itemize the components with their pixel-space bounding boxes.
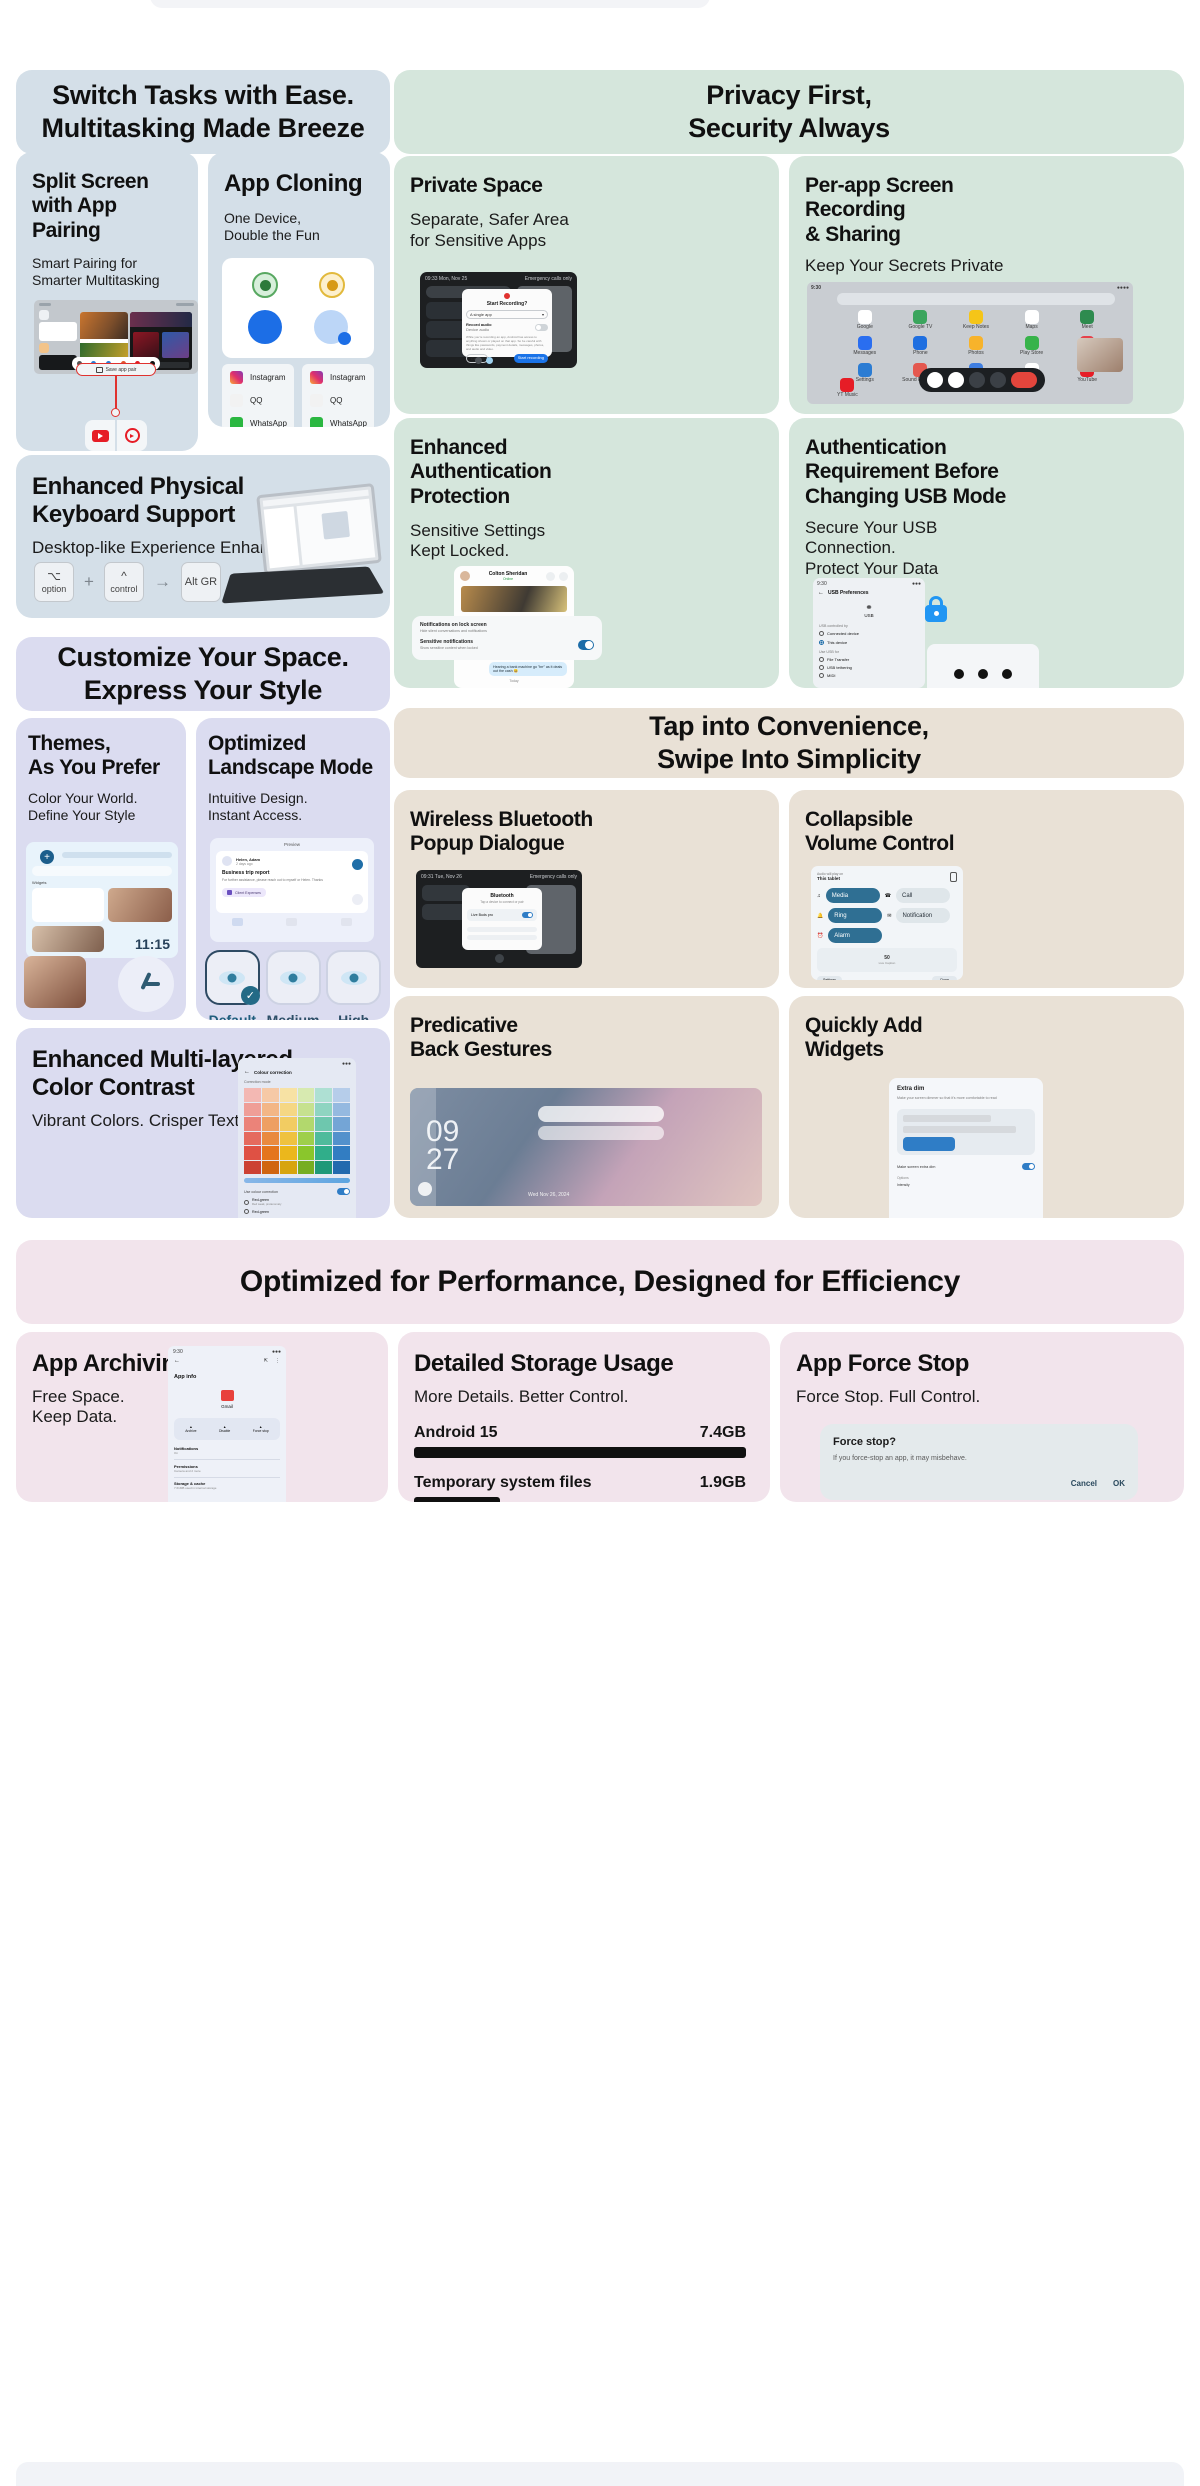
extra-dim-toggle[interactable] [1022, 1163, 1035, 1170]
card-add-widgets: Quickly Add Widgets Extra dim Make your … [789, 996, 1184, 1218]
privacy-band: Privacy First, Security Always [394, 70, 1184, 154]
force-stop-title: App Force Stop [796, 1350, 1168, 1378]
clone-list-left: Instagram QQ WhatsApp [222, 364, 294, 427]
end-call-button[interactable] [1011, 372, 1037, 388]
option-glyph-icon: ⌥ [47, 570, 61, 582]
force-stop-dialog: Force stop? If you force-stop an app, it… [820, 1424, 1138, 1500]
card-usb-auth: Authentication Requirement Before Changi… [789, 418, 1184, 688]
table-row: Android 15 7.4GB [414, 1424, 746, 1442]
control-glyph-icon: ^ [121, 570, 127, 582]
app-cloning-sub: One Device, Double the Fun [224, 210, 374, 244]
card-color-contrast: Enhanced Multi-layered Color Contrast Vi… [16, 1028, 390, 1218]
private-space-title: Private Space [410, 174, 763, 198]
ring-icon: 🔔 [817, 913, 823, 919]
sensitive-notifications-panel: Notifications on lock screen Hide silent… [412, 616, 602, 660]
storage-bar [414, 1447, 746, 1458]
qq-icon [230, 394, 243, 407]
ok-button[interactable]: OK [1113, 1479, 1125, 1488]
app-cloning-title: App Cloning [224, 170, 374, 198]
cancel-button[interactable]: Cancel [1071, 1479, 1097, 1488]
bottom-strip [16, 2462, 1184, 2486]
key-altgr[interactable]: Alt GR [181, 562, 221, 602]
radio-file-transfer[interactable]: File Transfer [819, 657, 849, 662]
list-item: QQ [302, 389, 374, 412]
radio-red-green-1[interactable]: Red-green Red weak, protanomaly [244, 1198, 281, 1206]
lock-icon [923, 596, 949, 622]
archive-action[interactable]: ▲Archive [185, 1425, 196, 1433]
usb-preferences-mock: 9:30 ●●● ← USB Preferences ⚭ USB USB con… [813, 578, 925, 688]
landscape-sub: Intuitive Design. Instant Access. [208, 790, 378, 824]
card-keyboard-support: Enhanced Physical Keyboard Support Deskt… [16, 455, 390, 618]
multitasking-band-title: Switch Tasks with Ease. Multitasking Mad… [42, 79, 365, 145]
raise-hand-icon[interactable] [969, 372, 985, 388]
chip-client-expenses[interactable]: Client Expenses [222, 888, 266, 897]
file-icon [227, 890, 232, 895]
split-screen-sub: Smart Pairing for Smarter Multitasking [32, 255, 182, 289]
bluetooth-title: Wireless Bluetooth Popup Dialogue [410, 808, 763, 857]
table-row: Temporary system files 1.9GB [414, 1474, 746, 1492]
volume-media[interactable]: Media [826, 888, 880, 903]
card-themes: Themes, As You Prefer Color Your World. … [16, 718, 186, 1020]
split-screen-title: Split Screen with App Pairing [32, 170, 182, 243]
card-split-screen: Split Screen with App Pairing Smart Pair… [16, 152, 198, 451]
app-info-mock: 9:30 ●●● ← ⇱ ⋮ App info Gmail ▲Archive ▲… [168, 1346, 286, 1502]
bluetooth-toggle[interactable] [522, 912, 533, 918]
keyboard-shortcut-row: ⌥ option + ^ control → Alt GR [34, 562, 221, 602]
list-item: QQ [222, 389, 294, 412]
video-call-pip [1077, 338, 1123, 372]
landscape-title: Optimized Landscape Mode [208, 732, 378, 781]
start-recording-button[interactable]: Start recording [514, 354, 548, 363]
alarm-icon: ⏰ [817, 933, 823, 939]
mute-icon[interactable] [927, 372, 943, 388]
storage-rows: Android 15 7.4GB Temporary system files … [414, 1424, 746, 1502]
tablet-keyboard-illustration [228, 485, 384, 613]
contrast-level-selector[interactable]: ✓ Default Medium High [202, 950, 384, 1020]
screen-recording-sub: Keep Your Secrets Private [805, 256, 1168, 276]
volume-title: Collapsible Volume Control [805, 808, 1168, 857]
arrow-right-icon: → [154, 572, 171, 592]
performance-band: Optimized for Performance, Designed for … [16, 1240, 1184, 1324]
private-space-sub: Separate, Safer Area for Sensitive Apps [410, 210, 763, 251]
chevron-down-icon: ▾ [542, 312, 544, 317]
pin-dots [927, 644, 1039, 688]
pair-icon [96, 367, 103, 373]
list-item: Instagram [302, 366, 374, 389]
card-volume-control: Collapsible Volume Control Audio will pl… [789, 790, 1184, 988]
private-space-mock: 09:33 Mon, Nov 25 Emergency calls only S… [420, 272, 577, 368]
call-controls[interactable] [919, 368, 1045, 392]
contrast-level-default[interactable]: ✓ Default [202, 950, 263, 1020]
card-bluetooth-popup: Wireless Bluetooth Popup Dialogue 09:31 … [394, 790, 779, 988]
customize-band: Customize Your Space. Express Your Style [16, 637, 390, 711]
inbox-icon[interactable] [232, 918, 243, 926]
cloning-illustration [222, 258, 374, 358]
record-audio-toggle[interactable] [535, 324, 548, 331]
call-icon: ☎ [885, 893, 891, 899]
card-force-stop: App Force Stop Force Stop. Full Control.… [780, 1332, 1184, 1502]
enhanced-auth-title: Enhanced Authentication Protection [410, 436, 763, 509]
clone-list-right: Instagram QQ WhatsApp [302, 364, 374, 427]
convenience-band-title: Tap into Convenience, Swipe Into Simplic… [649, 710, 929, 776]
storage-bar [414, 1497, 500, 1502]
themes-title: Themes, As You Prefer [28, 732, 174, 781]
customize-band-title: Customize Your Space. Express Your Style [57, 641, 348, 707]
card-storage-usage: Detailed Storage Usage More Details. Bet… [398, 1332, 770, 1502]
color-correction-mock: ●●● ← Colour correction Correction mode [238, 1058, 356, 1218]
card-screen-recording: Per-app Screen Recording & Sharing Keep … [789, 156, 1184, 414]
key-control[interactable]: ^ control [104, 562, 144, 602]
dialog-title: Force stop? [833, 1436, 1125, 1448]
menu-icon[interactable] [341, 918, 352, 926]
share-icon[interactable]: ⇱ [264, 1358, 268, 1364]
bluetooth-mock: 09:31 Tue, Nov 26 Emergency calls only B… [416, 870, 582, 968]
force-stop-sub: Force Stop. Full Control. [796, 1387, 1168, 1407]
edit-button[interactable] [352, 894, 363, 905]
volume-alarm[interactable]: Alarm [828, 928, 882, 943]
youtube-music-tile [117, 420, 147, 451]
plus-icon: + [84, 572, 94, 592]
band-line-2: Multitasking Made Breeze [42, 113, 365, 143]
contrast-level-high[interactable]: High [323, 950, 384, 1020]
volume-mock: Audio will play on This tablet ♫Media ☎C… [811, 866, 963, 980]
widgets-mock: Extra dim Make your screen dimmer so tha… [889, 1078, 1043, 1218]
convenience-band: Tap into Convenience, Swipe Into Simplic… [394, 708, 1184, 778]
radio-usb-tethering[interactable]: USB tethering [819, 665, 852, 670]
more-icon[interactable] [990, 372, 1006, 388]
storage-title: Detailed Storage Usage [414, 1350, 754, 1378]
gmail-icon [221, 1390, 234, 1401]
add-widgets-title: Quickly Add Widgets [805, 1014, 1168, 1063]
usb-auth-sub: Secure Your USB Connection. Protect Your… [805, 518, 1168, 579]
media-icon: ♫ [817, 893, 821, 899]
screen-recording-mock: 9:30 ●●●● Google Google TV Keep Notes Ma… [807, 282, 1133, 404]
volume-notification[interactable]: Notification [896, 908, 950, 923]
list-item: Instagram [222, 366, 294, 389]
contrast-level-medium[interactable]: Medium [263, 950, 324, 1020]
grid-icon[interactable] [286, 918, 297, 926]
card-private-space: Private Space Separate, Safer Area for S… [394, 156, 779, 414]
volume-call[interactable]: Call [896, 888, 950, 903]
color-correction-toggle[interactable] [337, 1188, 350, 1195]
dialog-body: If you force-stop an app, it may misbeha… [833, 1454, 1125, 1463]
back-arrow-icon[interactable]: ← [818, 590, 824, 596]
key-option[interactable]: ⌥ option [34, 562, 74, 602]
themes-mock: + Widgets 11:15 [26, 842, 178, 958]
card-landscape: Optimized Landscape Mode Intuitive Desig… [196, 718, 390, 1020]
add-widget-button[interactable]: + [40, 850, 54, 864]
list-item: WhatsApp [222, 412, 294, 427]
video-icon[interactable] [948, 372, 964, 388]
check-icon: ✓ [241, 986, 260, 1005]
band-line-1: Switch Tasks with Ease. [52, 80, 354, 110]
force-stop-action[interactable]: ▲Force stop [253, 1425, 269, 1433]
done-button[interactable]: Done [932, 976, 957, 980]
screen-recording-title: Per-app Screen Recording & Sharing [805, 174, 1168, 247]
radio-this-device[interactable]: This device [819, 640, 847, 645]
multitasking-band: Switch Tasks with Ease. Multitasking Mad… [16, 70, 390, 154]
instagram-icon [310, 371, 323, 384]
card-app-archiving: App Archiving Free Space. Keep Data. 9:3… [16, 1332, 388, 1502]
analog-clock-widget [118, 956, 174, 1012]
enhanced-auth-sub: Sensitive Settings Kept Locked. [410, 521, 763, 562]
tablet-icon [950, 872, 957, 882]
youtube-tile [85, 420, 115, 451]
back-gestures-title: Predicative Back Gestures [410, 1014, 763, 1063]
volume-ring[interactable]: Ring [828, 908, 882, 923]
settings-button[interactable]: Settings [817, 976, 842, 980]
back-arrow-icon[interactable]: ← [174, 1358, 180, 1364]
sensitive-notifications-toggle[interactable] [578, 640, 594, 650]
usb-auth-title: Authentication Requirement Before Changi… [805, 436, 1168, 509]
card-back-gestures: Predicative Back Gestures 09 27 Wed Nov … [394, 996, 779, 1218]
save-app-pair-chip[interactable]: Save app pair [76, 363, 156, 376]
top-strip [150, 0, 710, 8]
privacy-band-title: Privacy First, Security Always [688, 79, 890, 145]
radio-midi[interactable]: MIDI [819, 673, 835, 678]
radio-red-green-2[interactable]: Red-green [244, 1209, 269, 1214]
usb-icon: ⚭ [813, 602, 925, 613]
performance-band-title: Optimized for Performance, Designed for … [240, 1264, 960, 1301]
whatsapp-icon [230, 417, 243, 427]
card-enhanced-auth: Enhanced Authentication Protection Sensi… [394, 418, 779, 688]
back-arrow-icon[interactable]: ← [244, 1069, 250, 1075]
photo-widget [24, 956, 86, 1008]
more-icon[interactable]: ⋮ [275, 1358, 280, 1364]
feature-poster: Switch Tasks with Ease. Multitasking Mad… [0, 0, 1200, 2478]
qq-icon [310, 394, 323, 407]
card-app-cloning: App Cloning One Device, Double the Fun [208, 152, 390, 427]
radio-connected-device[interactable]: Connected device [819, 631, 859, 636]
instagram-icon [230, 371, 243, 384]
list-item: WhatsApp [302, 412, 374, 427]
notification-icon: ✉ [887, 913, 891, 919]
landscape-mock: Preview Helen, Adam 2 days ago Business … [210, 838, 374, 942]
disable-action[interactable]: ▲Disable [219, 1425, 230, 1433]
back-gesture-mock: 09 27 Wed Nov 26, 2024 [410, 1088, 762, 1206]
back-gesture-handle[interactable] [418, 1182, 432, 1196]
whatsapp-icon [310, 417, 323, 427]
star-button[interactable] [352, 859, 363, 870]
storage-sub: More Details. Better Control. [414, 1387, 754, 1407]
themes-sub: Color Your World. Define Your Style [28, 790, 174, 824]
